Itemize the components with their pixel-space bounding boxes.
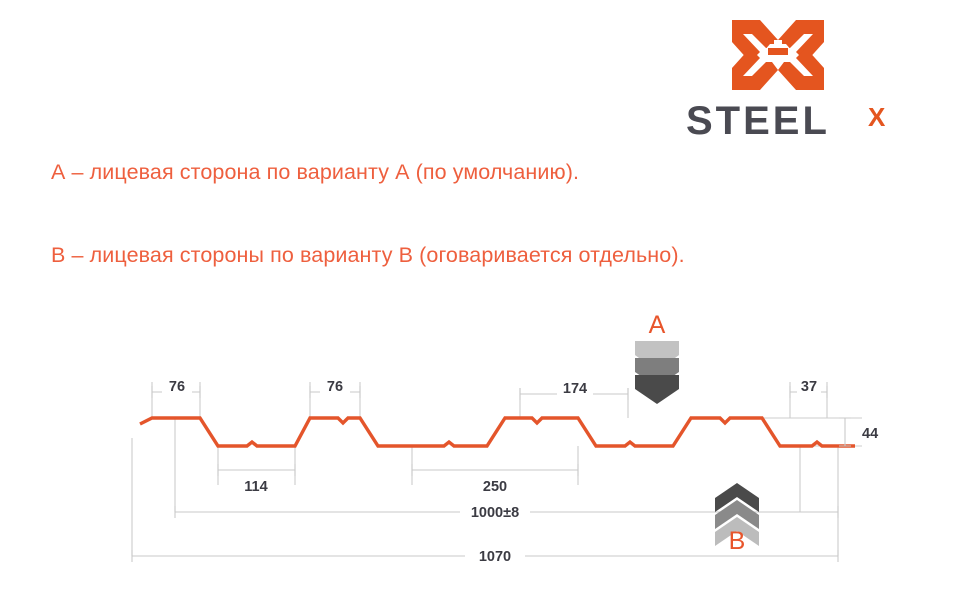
dimension-label-1070: 1070 <box>479 549 511 565</box>
side-b-label: В <box>729 527 746 555</box>
dimension-250: 250 <box>412 464 578 495</box>
dimension-37: 37 <box>790 378 827 398</box>
dimension-label-76-mid: 76 <box>327 379 343 395</box>
dimension-174: 174 <box>520 380 628 400</box>
dimension-label-114: 114 <box>244 479 267 495</box>
dimension-label-44: 44 <box>862 426 878 442</box>
dimension-label-1000: 1000±8 <box>471 505 519 521</box>
dimension-114: 114 <box>218 464 295 495</box>
side-a-marker: А <box>635 311 679 404</box>
side-a-label: А <box>649 311 666 339</box>
profile-cross-section-line <box>140 418 855 446</box>
dimension-44-height: 44 <box>839 418 878 446</box>
dimension-76-left: 76 <box>152 378 200 398</box>
side-a-chevrons-down-icon <box>635 341 679 404</box>
dimension-label-174: 174 <box>563 381 587 397</box>
side-b-marker: В <box>715 483 759 555</box>
profile-technical-drawing: 76 76 174 37 114 250 44 1000±8 <box>0 0 970 597</box>
dimension-label-76-left: 76 <box>169 379 185 395</box>
dimension-label-37: 37 <box>801 379 817 395</box>
dimension-76-mid: 76 <box>310 378 360 398</box>
dimension-label-250: 250 <box>483 479 507 495</box>
